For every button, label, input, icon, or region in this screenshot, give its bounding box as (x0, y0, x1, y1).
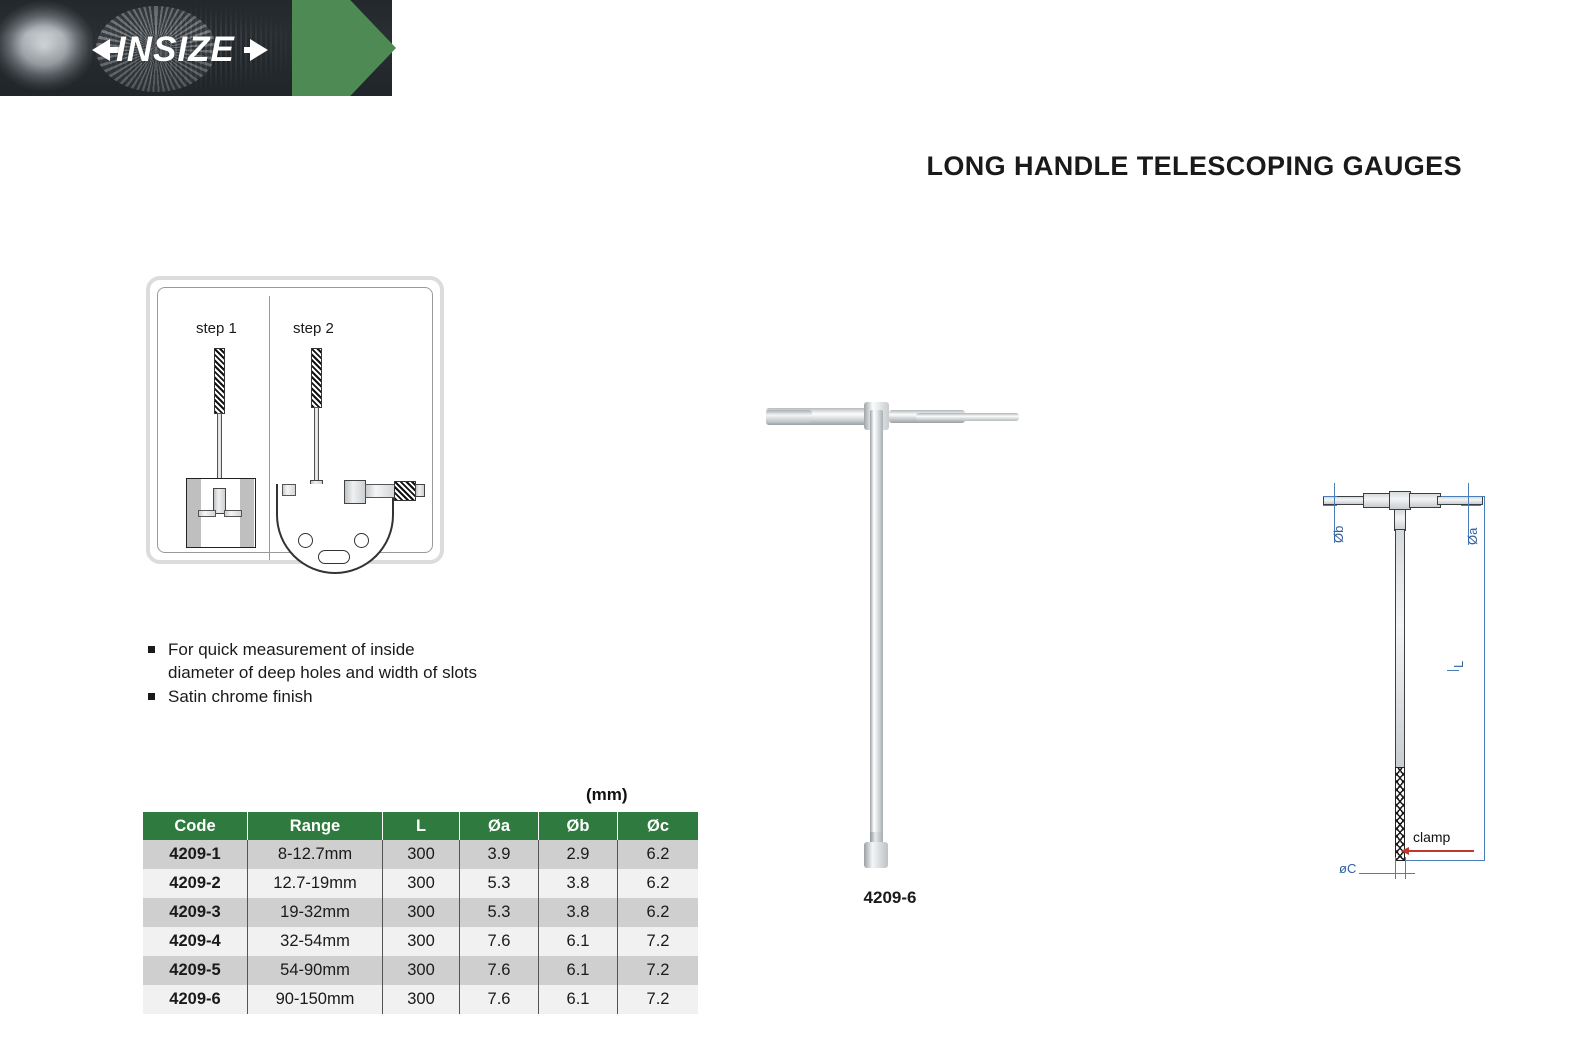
table-row: 4209-3 19-32mm 300 5.3 3.8 6.2 (143, 898, 698, 927)
cell-oc: 7.2 (618, 956, 699, 985)
right-arrow-icon (250, 39, 268, 61)
product-photo (700, 380, 1080, 900)
dim-ext-oc-right (1405, 857, 1406, 879)
dim-tick-ob-bottom (1323, 505, 1337, 506)
product-photo-caption: 4209-6 (845, 888, 935, 908)
clamp-callout-arrow (1408, 850, 1474, 852)
cell-ob: 3.8 (539, 898, 618, 927)
cell-oc: 6.2 (618, 898, 699, 927)
dim-leader-l (1447, 670, 1459, 671)
dim-tick-oa-bottom (1461, 505, 1481, 506)
cell-range: 32-54mm (248, 927, 383, 956)
drawing-hub (1389, 491, 1411, 510)
cell-oa: 7.6 (460, 956, 539, 985)
dim-label-l: L (1451, 661, 1466, 668)
list-item: Satin chrome finish (146, 685, 666, 708)
cell-l: 300 (383, 869, 460, 898)
micrometer-thimble (394, 481, 416, 501)
step-2-label: step 2 (293, 320, 334, 337)
column-header-l: L (383, 812, 460, 840)
cell-oa: 7.6 (460, 985, 539, 1014)
cell-l: 300 (383, 956, 460, 985)
specifications-table: Code Range L Øa Øb Øc 4209-1 8-12.7mm 30… (143, 812, 698, 1014)
table-row: 4209-6 90-150mm 300 7.6 6.1 7.2 (143, 985, 698, 1014)
cell-range: 90-150mm (248, 985, 383, 1014)
photo-handle-arm-left-tip (766, 410, 812, 423)
cell-ob: 6.1 (539, 927, 618, 956)
clamp-callout-label: clamp (1413, 829, 1450, 845)
page-header: INSIZE (0, 0, 1588, 96)
cell-code: 4209-4 (143, 927, 248, 956)
cell-oc: 6.2 (618, 840, 699, 869)
step-divider (269, 296, 270, 560)
cell-code: 4209-2 (143, 869, 248, 898)
step-1-label: step 1 (196, 320, 237, 337)
cell-range: 12.7-19mm (248, 869, 383, 898)
page-title: LONG HANDLE TELESCOPING GAUGES (926, 151, 1462, 182)
cell-range: 54-90mm (248, 956, 383, 985)
drawing-arm-left-inner (1363, 493, 1391, 508)
feature-line-2: diameter of deep holes and width of slot… (168, 661, 666, 684)
list-item: For quick measurement of inside diameter… (146, 638, 666, 684)
cell-oc: 6.2 (618, 869, 699, 898)
clamp-callout-arrowhead (1401, 847, 1409, 855)
column-header-oa: Øa (460, 812, 539, 840)
feature-list: For quick measurement of inside diameter… (146, 638, 666, 709)
photo-handle-arm-right-tip (916, 413, 1019, 421)
column-header-ob: Øb (539, 812, 618, 840)
cell-range: 19-32mm (248, 898, 383, 927)
gauge-arm-right (224, 510, 242, 517)
usage-steps-illustration: step 1 step 2 (146, 276, 444, 564)
gauge-arm-left (198, 510, 216, 517)
gauge-knurled-handle (214, 348, 225, 414)
micrometer-hole-1 (298, 533, 313, 548)
dim-tick-ob-top (1323, 496, 1337, 497)
column-header-range: Range (248, 812, 383, 840)
cell-ob: 6.1 (539, 985, 618, 1014)
bore-wall-right (240, 479, 254, 547)
cell-ob: 2.9 (539, 840, 618, 869)
gauge2-rod (314, 407, 319, 487)
micrometer-hole-3 (318, 550, 350, 564)
cell-oc: 7.2 (618, 985, 699, 1014)
cell-l: 300 (383, 840, 460, 869)
cell-oa: 5.3 (460, 898, 539, 927)
dim-label-oa: Øa (1465, 528, 1480, 545)
micrometer-barrel-base (344, 480, 366, 504)
gauge2-knurled-handle (311, 348, 322, 408)
cell-l: 300 (383, 985, 460, 1014)
cell-oc: 7.2 (618, 927, 699, 956)
micrometer-ratchet (415, 484, 425, 497)
cell-code: 4209-6 (143, 985, 248, 1014)
technical-drawing: Øb Øa L øC clamp (1275, 465, 1525, 880)
table-row: 4209-2 12.7-19mm 300 5.3 3.8 6.2 (143, 869, 698, 898)
dim-extension-l-top (1441, 496, 1485, 497)
drawing-arm-right-outer (1437, 496, 1483, 505)
dim-label-oc: øC (1339, 861, 1356, 876)
cell-ob: 6.1 (539, 956, 618, 985)
dim-line-oc (1359, 873, 1415, 874)
photo-long-handle (870, 410, 883, 850)
cell-oa: 5.3 (460, 869, 539, 898)
cell-code: 4209-5 (143, 956, 248, 985)
insize-logo: INSIZE (92, 30, 272, 70)
cell-range: 8-12.7mm (248, 840, 383, 869)
table-row: 4209-1 8-12.7mm 300 3.9 2.9 6.2 (143, 840, 698, 869)
feature-line-1: For quick measurement of inside (168, 640, 415, 659)
column-header-code: Code (143, 812, 248, 840)
feature-line-1: Satin chrome finish (168, 687, 313, 706)
drawing-long-handle (1395, 529, 1405, 769)
micrometer-barrel (365, 484, 395, 498)
dim-line-l-vertical (1484, 496, 1485, 861)
micrometer-anvil (282, 484, 296, 496)
dim-label-ob: Øb (1331, 526, 1346, 543)
cell-l: 300 (383, 898, 460, 927)
step-inner-frame: step 1 step 2 (157, 287, 433, 553)
cell-l: 300 (383, 927, 460, 956)
logo-wordmark: INSIZE (116, 30, 235, 70)
cell-ob: 3.8 (539, 869, 618, 898)
table-row: 4209-5 54-90mm 300 7.6 6.1 7.2 (143, 956, 698, 985)
micrometer-hole-2 (354, 533, 369, 548)
photo-clamp-knob (864, 842, 888, 868)
dim-ext-oc-left (1395, 857, 1396, 879)
dim-extension-l-bottom (1405, 860, 1485, 861)
table-header-row: Code Range L Øa Øb Øc (143, 812, 698, 840)
table-row: 4209-4 32-54mm 300 7.6 6.1 7.2 (143, 927, 698, 956)
cell-code: 4209-3 (143, 898, 248, 927)
unit-label: (mm) (586, 785, 628, 805)
cell-oa: 3.9 (460, 840, 539, 869)
cell-oa: 7.6 (460, 927, 539, 956)
drawing-stem-collar (1394, 509, 1406, 531)
column-header-oc: Øc (618, 812, 699, 840)
cell-code: 4209-1 (143, 840, 248, 869)
